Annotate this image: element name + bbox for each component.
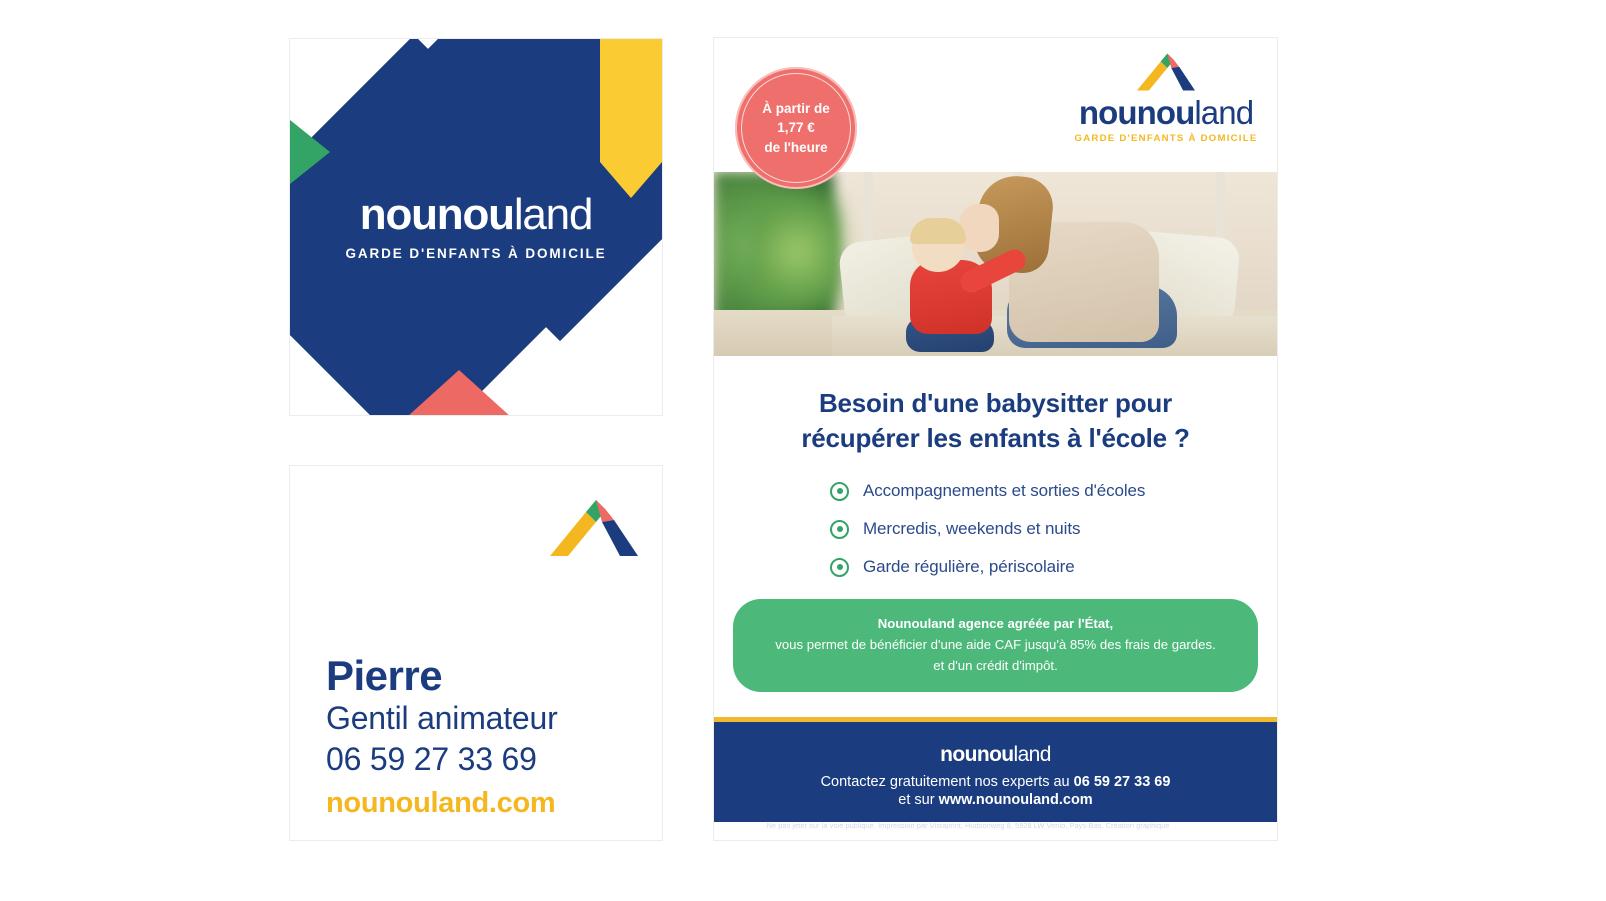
callout-line-2: vous permet de bénéficier d'une aide CAF… [775, 637, 1215, 652]
flyer-footer: nounouland Contactez gratuitement nos ex… [714, 722, 1277, 822]
price-badge-inner: À partir de 1,77 € de l'heure [741, 73, 851, 183]
nounouland-chevron-logo-icon [550, 498, 638, 558]
list-item-label: Garde régulière, périscolaire [863, 557, 1075, 577]
photo-woman-face [959, 204, 999, 252]
price-badge-line3: de l'heure [764, 138, 827, 157]
footer-site-prefix: et sur [898, 792, 938, 808]
footer-phone[interactable]: 06 59 27 33 69 [1074, 774, 1171, 790]
wordmark-bold-part: nounou [1079, 94, 1195, 131]
flyer-header: À partir de 1,77 € de l'heure nounouland… [714, 38, 1277, 172]
contact-name: Pierre [326, 654, 642, 698]
business-card-front: nounouland GARDE D'ENFANTS À DOMICILE [290, 39, 662, 415]
photo-plant-highlight [752, 192, 842, 312]
card-back-details: Pierre Gentil animateur 06 59 27 33 69 n… [326, 654, 642, 820]
flyer-logo: nounouland GARDE D'ENFANTS À DOMICILE [1073, 52, 1259, 144]
nounouland-chevron-logo-icon [1137, 52, 1195, 92]
canvas: nounouland GARDE D'ENFANTS À DOMICILE Pi… [0, 0, 1606, 901]
contact-website[interactable]: nounouland.com [326, 787, 642, 820]
wordmark-light-part: land [1194, 94, 1253, 131]
business-card-back: Pierre Gentil animateur 06 59 27 33 69 n… [290, 466, 662, 840]
flyer-hero-photo [714, 172, 1277, 356]
card-front-wordmark: nounouland [360, 193, 592, 237]
wordmark-light-part: land [1014, 743, 1051, 766]
flyer-wordmark: nounouland [1079, 96, 1253, 129]
photo-child-hair [910, 218, 966, 244]
contact-phone: 06 59 27 33 69 [326, 739, 642, 780]
footer-website[interactable]: www.nounouland.com [939, 792, 1093, 808]
flyer-tagline: GARDE D'ENFANTS À DOMICILE [1075, 133, 1258, 144]
price-badge-amount: 1,77 € [777, 118, 815, 137]
bullet-dot-icon [830, 482, 849, 501]
card-front-tagline: GARDE D'ENFANTS À DOMICILE [345, 246, 606, 261]
footer-wordmark: nounouland [732, 744, 1259, 765]
footer-contact-line: Contactez gratuitement nos experts au 06… [732, 774, 1259, 790]
bullet-dot-icon [830, 558, 849, 577]
contact-role: Gentil animateur [326, 698, 642, 739]
list-item: Garde régulière, périscolaire [830, 557, 1255, 577]
list-item: Accompagnements et sorties d'écoles [830, 481, 1255, 501]
price-badge: À partir de 1,77 € de l'heure [735, 67, 857, 189]
headline-line-2: récupérer les enfants à l'école ? [801, 423, 1189, 453]
headline-line-1: Besoin d'une babysitter pour [819, 388, 1172, 418]
flyer-service-list: Accompagnements et sorties d'écoles Merc… [736, 481, 1255, 577]
flyer-callout-box: Nounouland agence agréée par l'État, vou… [733, 599, 1258, 692]
designer-credit[interactable]: dktdesign.com [1172, 821, 1225, 830]
flyer-headline: Besoin d'une babysitter pour récupérer l… [736, 386, 1255, 455]
callout-line-3: et d'un crédit d'impôt. [933, 658, 1058, 673]
list-item-label: Accompagnements et sorties d'écoles [863, 481, 1145, 501]
footer-contact-prefix: Contactez gratuitement nos experts au [821, 774, 1074, 790]
card-front-logo: nounouland GARDE D'ENFANTS À DOMICILE [290, 39, 662, 415]
flyer-body: Besoin d'une babysitter pour récupérer l… [714, 386, 1277, 577]
footer-site-line: et sur www.nounouland.com [732, 792, 1259, 808]
wordmark-bold-part: nounou [360, 190, 514, 239]
footer-legal-text: Ne pas jeter sur la voie publique. Impre… [732, 821, 1259, 830]
flyer: À partir de 1,77 € de l'heure nounouland… [714, 38, 1277, 840]
list-item-label: Mercredis, weekends et nuits [863, 519, 1080, 539]
legal-body: Ne pas jeter sur la voie publique. Impre… [767, 821, 1172, 830]
wordmark-bold-part: nounou [940, 743, 1013, 766]
bullet-dot-icon [830, 520, 849, 539]
price-badge-line1: À partir de [762, 99, 830, 118]
callout-line-1: Nounouland agence agréée par l'État, [878, 616, 1113, 631]
wordmark-light-part: land [514, 190, 592, 239]
list-item: Mercredis, weekends et nuits [830, 519, 1255, 539]
